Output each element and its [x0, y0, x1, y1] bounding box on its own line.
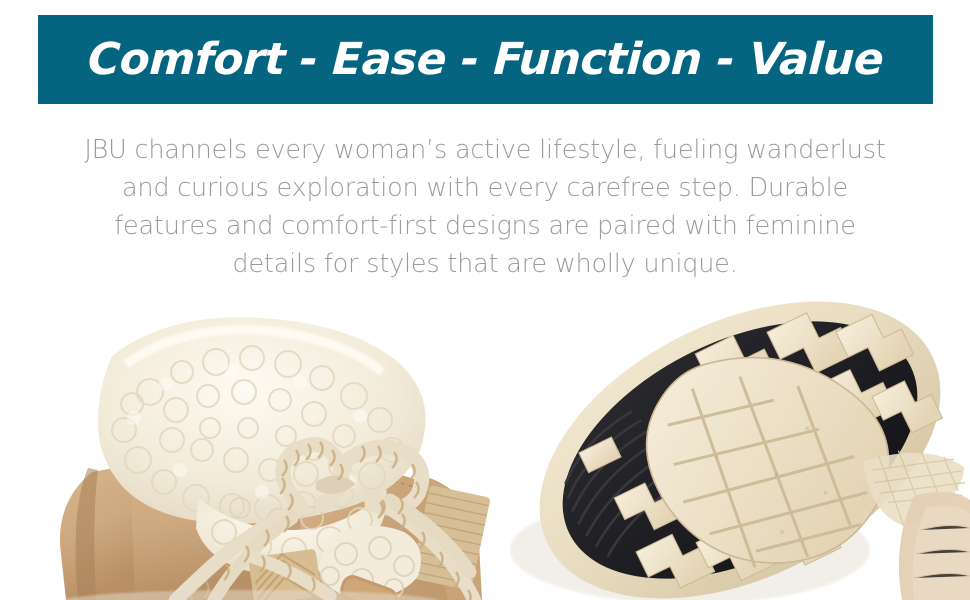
boot-outsole-photo — [510, 300, 970, 600]
header-banner: Comfort - Ease - Function - Value — [38, 15, 933, 104]
intro-paragraph: JBU channels every woman’s active lifest… — [70, 131, 900, 283]
marketing-banner-page: Comfort - Ease - Function - Value JBU ch… — [0, 0, 970, 600]
page-title: Comfort - Ease - Function - Value — [87, 38, 885, 82]
product-photo-band: Soft & Cozy Rugged Outsole — [0, 300, 970, 600]
boot-shearling-photo — [0, 300, 492, 600]
